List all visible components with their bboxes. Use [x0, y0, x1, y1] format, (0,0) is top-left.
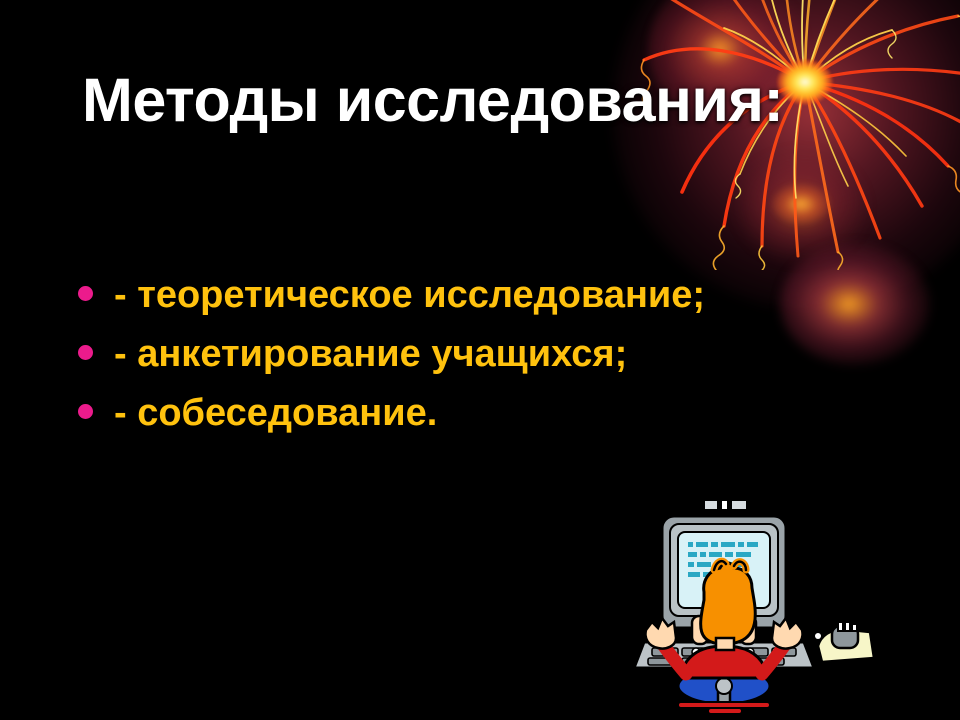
hair — [701, 563, 756, 644]
list-item: - собеседование. — [78, 390, 838, 437]
hand-right-icon — [772, 618, 803, 649]
glow-lower-burst-decoration — [736, 152, 866, 262]
kid-at-computer-icon — [618, 496, 888, 718]
glow-spark-decoration — [772, 184, 830, 224]
presentation-slide: Методы исследования: - теоретическое исс… — [0, 0, 960, 720]
mouse-icon — [832, 622, 858, 648]
bullet-dot-icon — [78, 345, 93, 360]
hand-left-icon — [646, 618, 677, 649]
bullet-dot-icon — [78, 286, 93, 301]
firework-icon — [600, 0, 960, 270]
monitor-vents-icon — [704, 500, 747, 510]
list-item: - анкетирование учащихся; — [78, 331, 838, 378]
bullet-text: - анкетирование учащихся; — [114, 331, 838, 378]
glow-burst-halo-decoration — [612, 0, 960, 310]
bullet-text: - собеседование. — [114, 390, 838, 437]
bullet-text: - теоретическое исследование; — [114, 272, 838, 319]
slide-title: Методы исследования: — [82, 68, 922, 132]
bullet-list: - теоретическое исследование; - анкетиро… — [78, 272, 838, 449]
list-item: - теоретическое исследование; — [78, 272, 838, 319]
bullet-dot-icon — [78, 404, 93, 419]
